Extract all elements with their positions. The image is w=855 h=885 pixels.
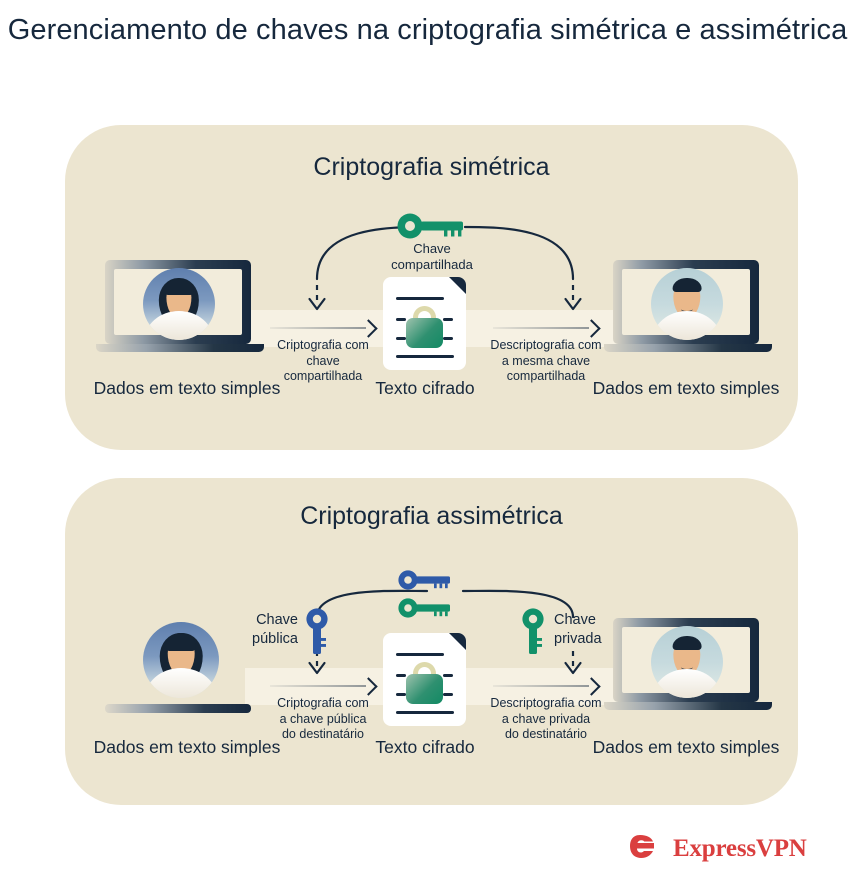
document-line [396, 355, 454, 358]
asymmetric-decrypt-label-line2: a chave privada [465, 712, 627, 728]
symmetric-encrypt-label-line2: chave [248, 354, 398, 370]
arrow-line [493, 327, 589, 329]
symmetric-encryption-panel: Criptografia simétrica Dados em texto si… [65, 125, 798, 450]
expressvpn-logo-icon [630, 830, 664, 867]
public-key-icon [304, 608, 330, 661]
avatar-fringe-icon [165, 279, 194, 296]
asymmetric-encrypt-arrow-icon [270, 676, 375, 696]
document-line [443, 693, 453, 696]
document-line [396, 653, 444, 656]
arrow-line [270, 685, 366, 687]
document-line [396, 711, 454, 714]
symmetric-decrypt-label-line2: a mesma chave [471, 354, 621, 370]
avatar-man-icon [651, 268, 723, 340]
shared-key-label: Chave compartilhada [352, 241, 512, 273]
avatar-shoulders-icon [652, 311, 721, 340]
document-line [396, 693, 406, 696]
symmetric-document-lock-icon [383, 277, 466, 370]
asymmetric-encrypt-label-line2: a chave pública [247, 712, 399, 728]
symmetric-receiver-caption: Dados em texto simples [556, 377, 816, 399]
arrow-head [359, 319, 377, 337]
arrow-line [270, 327, 366, 329]
public-key-label: Chave pública [220, 611, 298, 649]
document-line [443, 318, 453, 321]
document-line [396, 297, 444, 300]
avatar-woman-icon [143, 268, 215, 340]
avatar-man-icon [651, 626, 723, 698]
laptop-base [604, 702, 772, 710]
symmetric-panel-title: Criptografia simétrica [65, 153, 798, 182]
symmetric-receiver-laptop [613, 260, 759, 355]
avatar-woman-icon [143, 622, 219, 698]
document-line [443, 674, 453, 677]
asymmetric-private-key-pair-icon [398, 598, 454, 623]
symmetric-encrypt-label-line1: Criptografia com [248, 338, 398, 354]
symmetric-decrypt-label-line1: Descriptografia com [471, 338, 621, 354]
laptop-base [604, 344, 772, 352]
document-line [396, 337, 406, 340]
document-fold-icon [449, 277, 466, 294]
asymmetric-encrypt-label-line1: Criptografia com [247, 696, 399, 712]
document-line [396, 318, 406, 321]
arrow-head [582, 319, 600, 337]
avatar-hair-icon [673, 278, 702, 292]
expressvpn-logo[interactable]: ExpressVPN [630, 830, 807, 867]
shared-key-label-line1: Chave [352, 241, 512, 257]
avatar-shoulders-icon [652, 669, 721, 698]
asymmetric-encryption-panel: Criptografia assimétrica Dados em texto … [65, 478, 798, 805]
asymmetric-decrypt-label-line1: Descriptografia com [465, 696, 627, 712]
private-key-icon [520, 608, 546, 661]
document-line [396, 674, 406, 677]
padlock-body-icon [406, 674, 443, 704]
arrow-line [493, 685, 589, 687]
symmetric-encrypt-arrow-icon [270, 318, 375, 338]
arrow-head [582, 677, 600, 695]
shared-key-label-line2: compartilhada [352, 257, 512, 273]
avatar-shoulders-icon [144, 311, 213, 340]
asymmetric-decrypt-arrow-icon [493, 676, 598, 696]
avatar-hair-icon [673, 636, 702, 650]
asymmetric-document-lock-icon [383, 633, 466, 726]
laptop-base [96, 344, 264, 352]
asymmetric-panel-title: Criptografia assimétrica [65, 502, 798, 531]
document-fold-icon [449, 633, 466, 650]
asymmetric-receiver-caption: Dados em texto simples [556, 736, 816, 758]
arrow-head [359, 677, 377, 695]
asymmetric-public-key-pair-icon [398, 570, 454, 595]
page-title: Gerenciamento de chaves na criptografia … [0, 12, 855, 49]
asymmetric-receiver-laptop [613, 618, 759, 713]
document-line [443, 337, 453, 340]
shared-key-icon [397, 213, 467, 244]
public-key-label-line2: pública [220, 630, 298, 649]
laptop-base [105, 704, 251, 713]
symmetric-sender-laptop [105, 260, 251, 355]
public-key-label-line1: Chave [220, 611, 298, 630]
padlock-body-icon [406, 318, 443, 348]
symmetric-decrypt-arrow-icon [493, 318, 598, 338]
expressvpn-wordmark: ExpressVPN [673, 835, 807, 863]
avatar-shoulders-icon [145, 668, 218, 698]
